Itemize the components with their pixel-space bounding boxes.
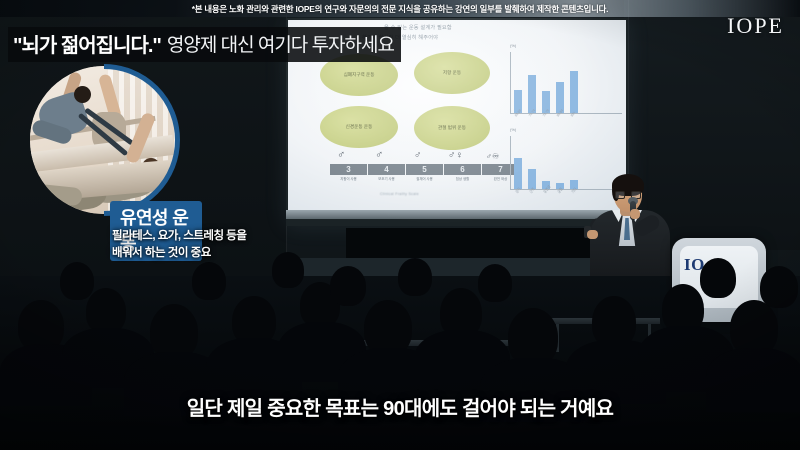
projection-screen-bottom-bar xyxy=(286,210,628,219)
scale-cell-6: 6 xyxy=(444,164,481,175)
slide-pictogram-5: ♂♾ xyxy=(486,153,499,161)
inset-description: 필라테스, 요가, 스트레칭 등을 배워서 하는 것이 중요 xyxy=(112,228,312,261)
inset-description-line-1: 필라테스, 요가, 스트레칭 등을 xyxy=(112,228,312,245)
video-frame: 32 을 수 있는 운동 설계가 필요함 하기가 쉽지만 더 열심히 해주어야 … xyxy=(0,0,800,450)
headline-quote: "뇌가 젊어집니다." xyxy=(13,29,161,58)
slide-chart-top: (%) 65-69 70-74 75-79 80-84 85+ xyxy=(510,52,622,114)
video-subtitle: 일단 제일 중요한 목표는 90대에도 걸어야 되는 거예요 xyxy=(0,392,800,421)
slide-chart-top-ticks: 65-69 70-74 75-79 80-84 85+ xyxy=(514,115,578,119)
headline-rest: 영양제 대신 여기다 투자하세요 xyxy=(167,30,394,57)
scale-cell-3: 3 xyxy=(330,164,367,175)
audience-head-15 xyxy=(330,266,366,306)
slide-chart-top-title: (%) xyxy=(510,43,516,48)
slide-ellipse-3-label: 신경운동 운동 xyxy=(346,124,373,131)
audience-head-17 xyxy=(478,264,512,302)
slide-pictogram-1: ♂ xyxy=(337,150,345,161)
slide-ellipse-4-label: 관절 범위 운동 xyxy=(438,125,466,132)
slide-chart-top-bars xyxy=(514,51,622,113)
scale-label-5: 휠체어 사용 xyxy=(406,177,443,182)
slide-pictogram-4: ♂♀ xyxy=(448,151,463,161)
slide-footer-note: Clinical Frailty Scale xyxy=(380,192,419,196)
inset-description-line-2: 배워서 하는 것이 중요 xyxy=(112,245,312,262)
audience-head-13 xyxy=(192,262,226,300)
slide-ellipse-4: 관절 범위 운동 xyxy=(414,106,490,150)
slide-ellipse-3: 신경운동 운동 xyxy=(320,106,398,148)
scale-cell-4: 4 xyxy=(368,164,405,175)
scale-label-6: 침상 생활 xyxy=(444,177,481,182)
inset-info-card: 유연성 운동 필라테스, 요가, 스트레칭 등을 배워서 하는 것이 중요 xyxy=(22,62,202,244)
slide-chart-top-x-axis xyxy=(510,113,622,114)
slide-chart-bottom-ticks: 걷기 근력 유연성 균형 기타 xyxy=(514,191,578,196)
audience-head-16 xyxy=(398,258,432,296)
speaker-presenter xyxy=(582,168,678,280)
audience-head-12 xyxy=(60,262,94,300)
headline-banner: "뇌가 젊어집니다." 영양제 대신 여기다 투자하세요 xyxy=(8,27,401,62)
bar-top-2 xyxy=(528,75,536,113)
scale-label-3: 지팡이 사용 xyxy=(330,177,367,182)
slide-ellipse-2-label: 저항 운동 xyxy=(443,70,461,77)
audience-head-19 xyxy=(760,266,798,308)
slide-pictogram-3: ♂ xyxy=(414,151,422,161)
slide-chart-top-y-axis xyxy=(510,52,511,114)
speaker-left-hand xyxy=(587,230,598,239)
bar-top-5 xyxy=(570,71,578,113)
disclaimer-text: *본 내용은 노화 관리와 관련한 IOPE의 연구와 자문의의 전문 지식을 … xyxy=(192,3,609,15)
slide-frailty-scale: 3 4 5 6 7 xyxy=(330,164,519,175)
slide-ellipse-1-label: 심폐지구력 운동 xyxy=(344,72,375,79)
scale-label-4: 보조기 사용 xyxy=(368,177,405,182)
audience-head-18 xyxy=(700,258,736,298)
scale-cell-5: 5 xyxy=(406,164,443,175)
slide-pictogram-2: ♂ xyxy=(375,150,383,161)
slide-chart-bottom-y-axis xyxy=(510,136,511,190)
speaker-right-hand xyxy=(630,209,640,219)
slide-ellipse-2: 저항 운동 xyxy=(414,52,490,94)
slide-chart-bottom-title: (%) xyxy=(510,127,516,132)
brand-logo-iope: IOPE xyxy=(727,13,784,39)
disclaimer-banner: *본 내용은 노화 관리와 관련한 IOPE의 연구와 자문의의 전문 지식을 … xyxy=(0,0,800,17)
